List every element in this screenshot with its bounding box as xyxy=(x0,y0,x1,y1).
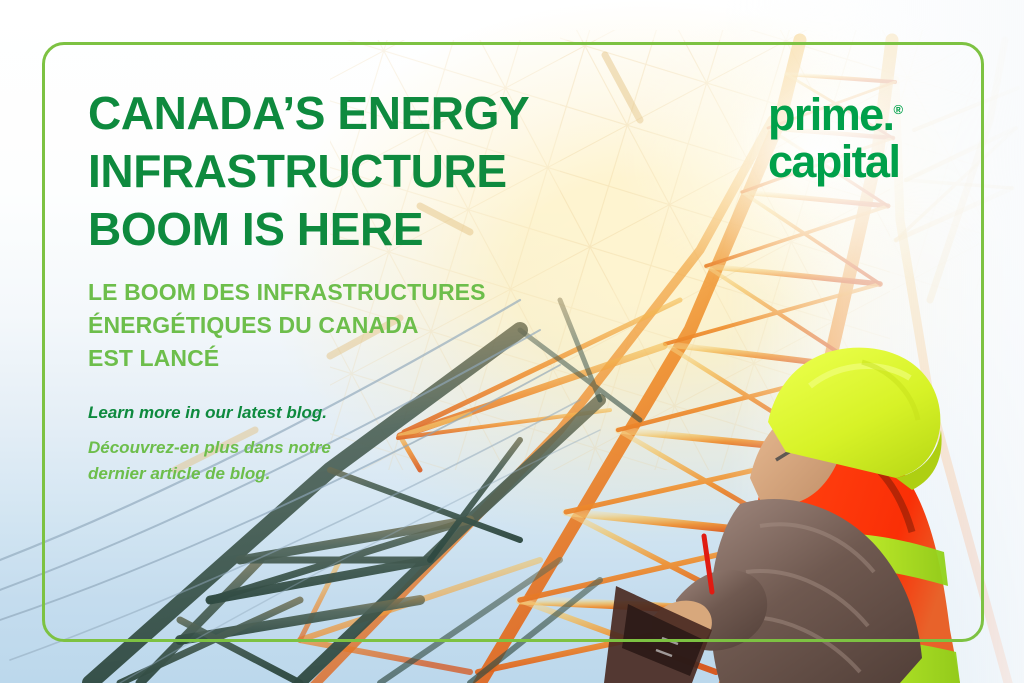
logo-line-capital: capital xyxy=(768,138,903,185)
page-subtitle-french: LE BOOM DES INFRASTRUCTURES ÉNERGÉTIQUES… xyxy=(88,276,648,375)
prime-capital-logo[interactable]: prime.® capital xyxy=(768,86,903,185)
registered-trademark-icon: ® xyxy=(893,102,903,117)
hero-copy-block: CANADA’S ENERGY INFRASTRUCTURE BOOM IS H… xyxy=(88,84,648,487)
cta-text-english[interactable]: Learn more in our latest blog. xyxy=(88,401,648,425)
promotional-banner: CANADA’S ENERGY INFRASTRUCTURE BOOM IS H… xyxy=(0,0,1024,683)
cta-text-french[interactable]: Découvrez-en plus dans notre dernier art… xyxy=(88,435,648,487)
page-title: CANADA’S ENERGY INFRASTRUCTURE BOOM IS H… xyxy=(88,84,648,258)
logo-line-prime: prime.® xyxy=(768,86,903,138)
utility-worker-photo xyxy=(600,300,1024,683)
